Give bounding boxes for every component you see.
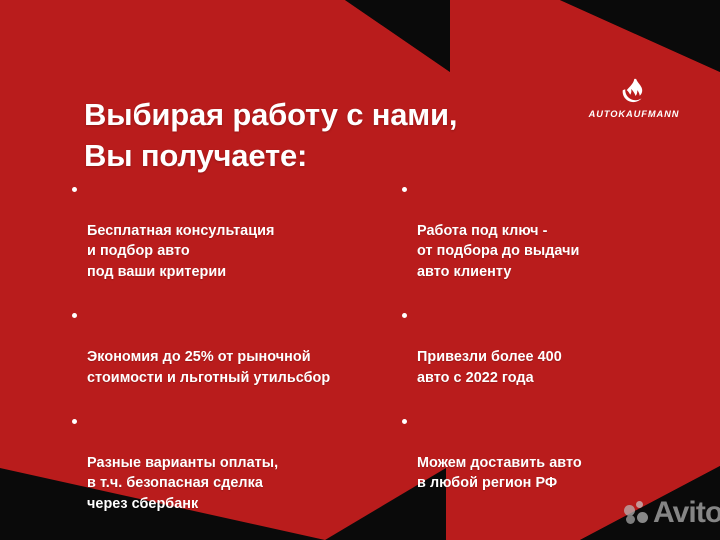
bullet-dot-icon	[402, 187, 407, 192]
benefit-text: Экономия до 25% от рыночной стоимости и …	[87, 349, 330, 385]
benefit-item: Привезли более 400 авто с 2022 года	[400, 306, 700, 388]
benefit-text: Работа под ключ - от подбора до выдачи а…	[417, 223, 579, 280]
bullet-dot-icon	[402, 419, 407, 424]
benefit-text: Привезли более 400 авто с 2022 года	[417, 349, 562, 385]
promo-poster: Выбирая работу с нами, Вы получаете: AUT…	[0, 0, 720, 540]
benefit-text: Разные варианты оплаты, в т.ч. безопасна…	[87, 455, 278, 512]
avito-watermark: Avito	[624, 498, 720, 528]
benefits-left-column: Бесплатная консультация и подбор авто по…	[70, 180, 400, 540]
benefit-item: Экономия до 25% от рыночной стоимости и …	[70, 306, 400, 388]
benefit-item: Разные варианты оплаты, в т.ч. безопасна…	[70, 412, 400, 514]
benefit-text: Бесплатная консультация и подбор авто по…	[87, 223, 274, 280]
benefit-text: Можем доставить авто в любой регион РФ	[417, 455, 582, 491]
bullet-dot-icon	[72, 313, 77, 318]
benefit-item: Можем доставить авто в любой регион РФ	[400, 412, 700, 494]
avito-wordmark: Avito	[653, 498, 720, 528]
brand-wordmark: AUTOKAUFMANN	[589, 109, 680, 119]
bullet-dot-icon	[72, 419, 77, 424]
brand-logo: AUTOKAUFMANN	[578, 76, 690, 134]
flame-swoosh-icon	[619, 76, 649, 106]
bullet-dot-icon	[72, 187, 77, 192]
benefit-item: Бесплатная консультация и подбор авто по…	[70, 180, 400, 282]
benefit-item: Работа под ключ - от подбора до выдачи а…	[400, 180, 700, 282]
benefits-right-column: Работа под ключ - от подбора до выдачи а…	[400, 180, 700, 494]
bullet-dot-icon	[402, 313, 407, 318]
page-title: Выбирая работу с нами, Вы получаете:	[84, 94, 564, 176]
avito-dots-icon	[624, 500, 650, 526]
